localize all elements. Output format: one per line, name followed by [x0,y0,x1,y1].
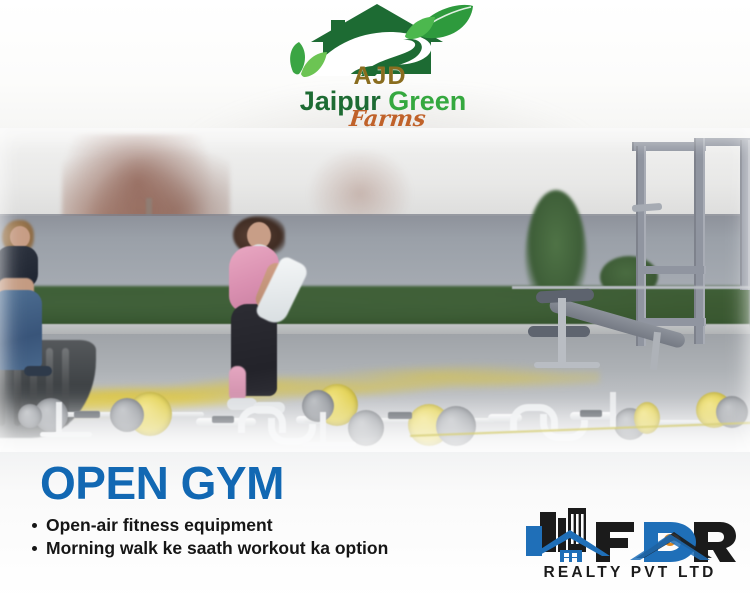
fdr-building-skyline-icon [524,506,736,566]
hero-photo [0,128,750,458]
brand-logo: AJD Jaipur Green Farms [265,2,495,144]
partner-logo-tagline: REALTY PVT LTD [526,564,734,582]
poster-root: AJD Jaipur Green Farms [0,0,750,600]
list-item: Open-air fitness equipment [28,514,488,536]
walker-head [10,226,30,248]
feature-list: Open-air fitness equipment Morning walk … [28,514,488,561]
rack-post-far [740,140,750,290]
bench-back-pad [548,296,687,349]
partner-logo: REALTY PVT LTD [524,506,736,590]
walker-jeans [0,290,42,370]
rack-j-hook [632,203,662,212]
brand-farms-text: Farms [264,108,511,130]
page-title: OPEN GYM [40,460,284,506]
list-item: Morning walk ke saath workout ka option [28,537,488,559]
brand-header: AJD Jaipur Green Farms [0,0,750,148]
rack-mid-beam [636,266,706,274]
bench-post [558,298,566,368]
walking-woman [0,220,58,380]
